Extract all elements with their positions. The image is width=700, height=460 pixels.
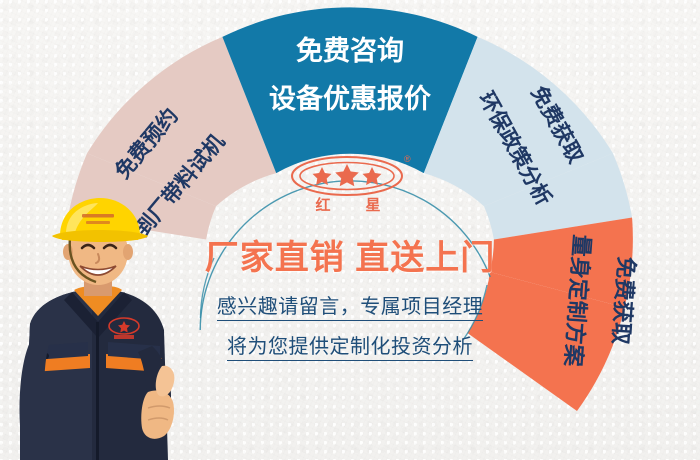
worker-thumbs-up-illustration <box>6 196 196 460</box>
helmet-label-2 <box>86 221 110 224</box>
helmet-label-1 <box>82 214 114 218</box>
subtitle-line-1: 感兴趣请留言，专属项目经理 <box>150 290 550 319</box>
subtitle-line-1-text: 感兴趣请留言，专属项目经理 <box>217 296 484 321</box>
consult-line-2: 设备优惠报价 <box>269 84 432 114</box>
star-center <box>335 164 359 186</box>
uniform-badge-text <box>114 335 134 339</box>
brand-logo: ® 红 星 <box>150 154 550 216</box>
center-content: ® 红 星 厂家直销 直送上门 感兴趣请留言，专属项目经理 将为您提供定制化投资… <box>150 150 550 395</box>
star-right <box>363 167 382 185</box>
worker-hand <box>141 390 174 438</box>
logo-trademark: ® <box>404 154 411 164</box>
worker-ear-right <box>123 244 133 260</box>
star-left <box>313 167 332 185</box>
logo-stars <box>313 164 382 186</box>
consult-line-1: 免费咨询 <box>296 36 404 66</box>
hongxing-logo-mark: ® 红 星 <box>275 154 425 216</box>
logo-char-left: 红 <box>315 196 330 214</box>
subtitle-line-2-text: 将为您提供定制化投资分析 <box>227 336 473 361</box>
worker-photo <box>6 196 196 460</box>
subtitle-line-2: 将为您提供定制化投资分析 <box>150 330 550 359</box>
worker-zipper <box>96 322 99 460</box>
promo-banner: 免费预约 到厂带料试机 免费咨询 设备优惠报价 免费获取 环保政策分析 免费获取… <box>0 0 700 460</box>
page-title: 厂家直销 直送上门 <box>150 230 550 279</box>
logo-char-right: 星 <box>365 197 380 214</box>
